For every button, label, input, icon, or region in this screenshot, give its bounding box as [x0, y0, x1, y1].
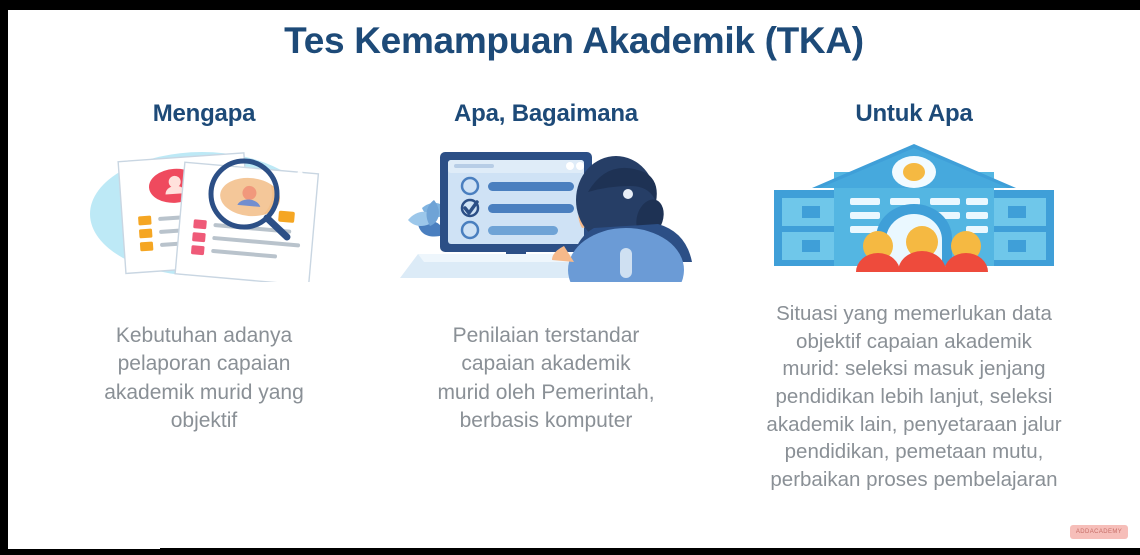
column-untuk-apa: Untuk Apa	[730, 100, 1098, 494]
school-building-students-illustration	[730, 142, 1098, 282]
column-body-apa-bagaimana: Penilaian terstandar capaian akademik mu…	[388, 322, 704, 435]
column-heading-apa-bagaimana: Apa, Bagaimana	[388, 100, 704, 128]
column-heading-mengapa: Mengapa	[46, 100, 362, 128]
student-computer-icon	[388, 142, 704, 282]
column-mengapa: Mengapa	[46, 100, 362, 435]
student-group	[856, 226, 988, 272]
column-body-untuk-apa: Situasi yang memerlukan data objektif ca…	[730, 300, 1098, 494]
watermark-badge: ADDACADEMY	[1070, 525, 1128, 539]
student-computer-test-illustration	[388, 142, 704, 282]
monitor	[440, 152, 592, 266]
page-title: Tes Kemampuan Akademik (TKA)	[8, 20, 1140, 62]
column-body-mengapa: Kebutuhan adanya pelaporan capaian akade…	[46, 322, 362, 435]
slide-canvas: Tes Kemampuan Akademik (TKA) Mengapa	[8, 10, 1140, 549]
column-apa-bagaimana: Apa, Bagaimana	[388, 100, 704, 435]
documents-magnifier-illustration	[46, 142, 362, 282]
documents-magnifier-icon	[46, 142, 362, 282]
bottom-black-bar	[160, 548, 1140, 555]
column-heading-untuk-apa: Untuk Apa	[730, 100, 1098, 128]
school-building-icon	[730, 142, 1098, 282]
